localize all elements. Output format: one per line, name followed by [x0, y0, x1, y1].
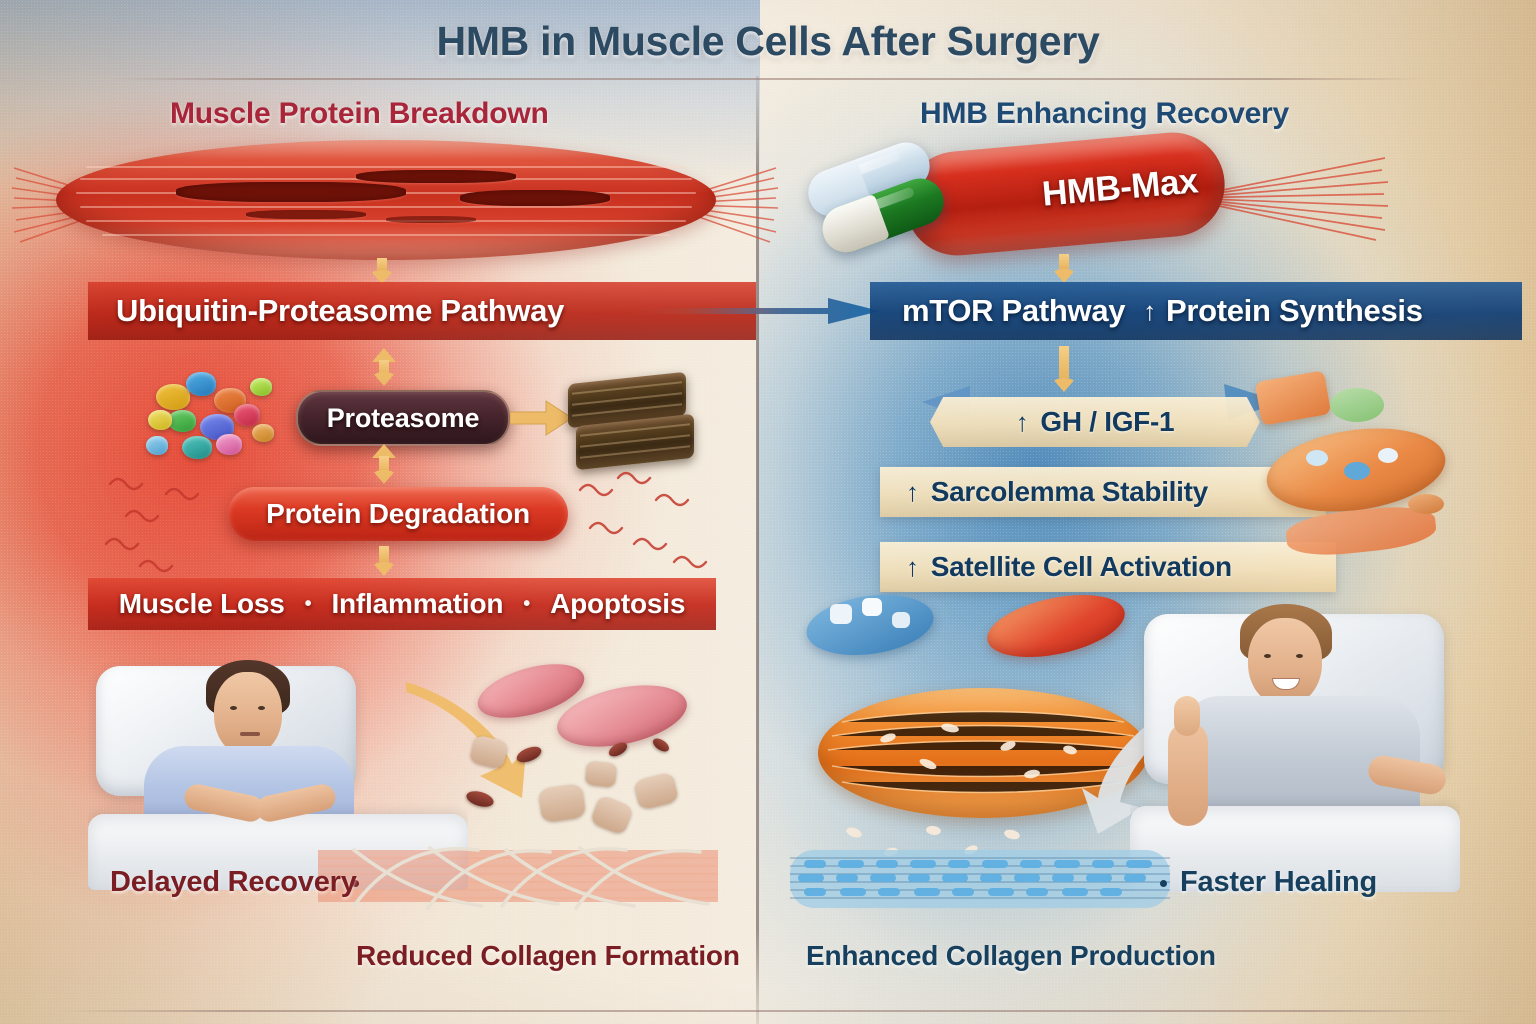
outcome-inflammation: Inflammation	[331, 588, 503, 620]
proteasome-node: Proteasome	[296, 390, 510, 446]
arrow-supplement-to-mtor-icon	[1052, 254, 1076, 282]
left-pathway-banner-label: Ubiquitin-Proteasome Pathway	[116, 293, 564, 329]
arrow-degradation-to-outcomes-icon	[372, 546, 396, 576]
mtor-pathway-label: mTOR Pathway	[902, 293, 1125, 329]
protein-synthesis-up-arrow-icon: ↑	[1143, 298, 1156, 324]
outcome-muscle-loss: Muscle Loss	[119, 588, 285, 620]
left-bottom-caption: Reduced Collagen Formation	[356, 940, 740, 972]
left-outcomes-bar: Muscle Loss • Inflammation • Apoptosis	[88, 578, 716, 630]
benefit-satellite-label: Satellite Cell Activation	[931, 551, 1232, 583]
cross-panel-arrow-icon	[630, 297, 880, 325]
torn-muscle-illustration	[56, 140, 716, 260]
benefit-sarcolemma-label: Sarcolemma Stability	[931, 476, 1208, 508]
arrow-proteasome-to-degradation-icon	[372, 444, 396, 486]
outcome-separator-1: •	[305, 593, 312, 616]
arrow-mtor-to-gh-icon	[1052, 346, 1076, 394]
benefit-satellite-cell-activation: ↑ Satellite Cell Activation	[880, 542, 1336, 592]
footer-rule	[60, 1010, 1476, 1012]
gh-up-arrow-icon: ↑	[1016, 409, 1029, 435]
protein-degradation-label: Protein Degradation	[266, 498, 530, 530]
left-patient-caption: Delayed Recovery	[110, 866, 357, 899]
left-panel-heading: Muscle Protein Breakdown	[170, 97, 549, 131]
reduced-collagen-weave-illustration	[318, 836, 718, 916]
enhanced-collagen-weave-illustration	[790, 840, 1170, 918]
infographic-canvas: HMB in Muscle Cells After Surgery Muscle…	[0, 0, 1536, 1024]
right-patient-scene	[1130, 600, 1460, 892]
right-patient-caption: Faster Healing	[1180, 866, 1377, 899]
right-panel-heading: HMB Enhancing Recovery	[920, 97, 1289, 131]
right-pathway-banner: mTOR Pathway ↑ Protein Synthesis	[870, 282, 1522, 340]
right-caption-bullet	[1160, 880, 1167, 887]
outcome-apoptosis: Apoptosis	[550, 588, 685, 620]
proteasome-label: Proteasome	[327, 403, 480, 434]
satellite-up-arrow-icon: ↑	[906, 554, 919, 580]
free-peptides-left-icon	[100, 470, 230, 580]
protein-synthesis-label: Protein Synthesis	[1166, 293, 1423, 329]
page-title: HMB in Muscle Cells After Surgery	[0, 18, 1536, 65]
arrow-proteasome-to-barrel-icon	[510, 398, 572, 438]
sarcolemma-up-arrow-icon: ↑	[906, 479, 919, 505]
benefit-sarcolemma-stability: ↑ Sarcolemma Stability	[880, 467, 1326, 517]
outcome-separator-2: •	[523, 593, 530, 616]
benefit-gh-igf1-label: GH / IGF-1	[1040, 406, 1174, 438]
free-peptides-right-icon	[570, 470, 720, 580]
benefit-gh-igf1: ↑ GH / IGF-1	[930, 397, 1260, 447]
header-rule-top	[110, 78, 1426, 80]
arrow-muscle-to-pathway-left-icon	[370, 258, 394, 282]
arrow-pathway-to-proteasome-icon	[372, 348, 396, 386]
protein-degradation-node: Protein Degradation	[228, 487, 568, 541]
right-bottom-caption: Enhanced Collagen Production	[806, 940, 1216, 972]
